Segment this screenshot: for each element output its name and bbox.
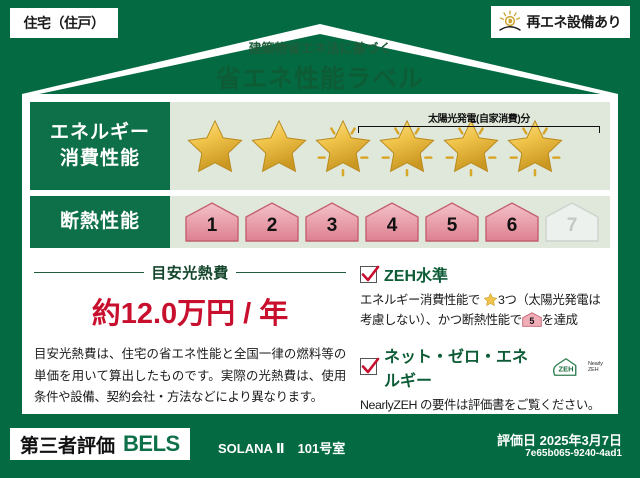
svg-text:ZEH: ZEH bbox=[558, 364, 573, 373]
insulation-level-number: 1 bbox=[184, 201, 240, 243]
net-zero-title: ネット・ゼロ・エネルギー bbox=[384, 343, 544, 391]
insulation-level-number: 7 bbox=[544, 201, 600, 243]
footer: 第三者評価 BELS SOLANA Ⅱ 101号室 評価日 2025年3月7日 … bbox=[0, 416, 640, 478]
bels-tag: 第三者評価 BELS bbox=[10, 428, 190, 460]
cost-heading-rule-left bbox=[34, 272, 144, 274]
insulation-level-number: 2 bbox=[244, 201, 300, 243]
building-name: SOLANA Ⅱ 101号室 bbox=[218, 438, 345, 457]
insulation-level-number: 6 bbox=[484, 201, 540, 243]
insulation-level-badge: 3 bbox=[304, 201, 360, 243]
star-icon bbox=[504, 115, 566, 177]
insulation-level-number: 3 bbox=[304, 201, 360, 243]
housing-type-tag: 住宅（住戸） bbox=[10, 8, 118, 38]
evaluation-id: 7e65b065-9240-4ad1 bbox=[525, 448, 622, 459]
cost-heading-label: 目安光熱費 bbox=[151, 262, 229, 283]
bels-logo: BELS bbox=[123, 431, 180, 457]
cost-section: 目安光熱費 約12.0万円 / 年 目安光熱費は、住宅の省エネ性能と全国一律の燃… bbox=[30, 258, 352, 415]
zeh-house-icon: ZEH bbox=[551, 355, 581, 379]
insulation-level-badge: 1 bbox=[184, 201, 240, 243]
renewable-energy-tag: 再エネ設備あり bbox=[491, 6, 631, 38]
insulation-performance-label: 断熱性能 bbox=[30, 196, 170, 248]
cost-note: 目安光熱費は、住宅の省エネ性能と全国一律の燃料等の単価を用いて算出したものです。… bbox=[34, 344, 346, 409]
net-zero-description: NearlyZEH の要件は評価書をご覧ください。 bbox=[360, 395, 610, 415]
cost-amount: 約12.0万円 / 年 bbox=[34, 290, 346, 332]
star-icon bbox=[376, 115, 438, 177]
zeh-standard-description: エネルギー消費性能で 3つ（太陽光発電は考慮しない）、かつ断熱性能で 5 を達成 bbox=[360, 290, 610, 331]
title-main: 省エネ性能ラベル bbox=[0, 59, 640, 95]
net-zero-check-row: ネット・ゼロ・エネルギー ZEH Nearly ZEH bbox=[360, 343, 610, 391]
zeh-standard-title: ZEH水準 bbox=[384, 262, 448, 286]
third-party-label: 第三者評価 bbox=[20, 431, 115, 458]
insulation-level-badge: 2 bbox=[244, 201, 300, 243]
star-icon bbox=[184, 115, 246, 177]
check-icon bbox=[360, 358, 377, 375]
star-icon bbox=[248, 115, 310, 177]
evaluation-date: 評価日 2025年3月7日 bbox=[497, 430, 622, 449]
star-icon bbox=[312, 115, 374, 177]
insulation-performance-row: 断熱性能 1 2 bbox=[30, 196, 610, 248]
sun-icon bbox=[497, 10, 523, 34]
lower-content: 目安光熱費 約12.0万円 / 年 目安光熱費は、住宅の省エネ性能と全国一律の燃… bbox=[30, 258, 610, 415]
housing-type-label: 住宅（住戸） bbox=[24, 13, 105, 33]
insulation-level-badge-inactive: 7 bbox=[544, 201, 600, 243]
zeh-section: ZEH水準 エネルギー消費性能で 3つ（太陽光発電は考慮しない）、かつ断熱性能で… bbox=[352, 258, 610, 415]
star-icon bbox=[483, 292, 498, 307]
renewable-energy-label: 再エネ設備あり bbox=[527, 12, 622, 32]
cost-heading: 目安光熱費 bbox=[34, 262, 346, 283]
zeh-desc-part1: エネルギー消費性能で bbox=[360, 293, 480, 307]
energy-performance-label: 住宅（住戸） 再エネ設備あり 建築物省エネ法に基づく 省エネ性能ラベ bbox=[0, 0, 640, 478]
energy-performance-stars: 太陽光発電(自家消費)分 bbox=[170, 102, 610, 190]
zeh-standard-check-row: ZEH水準 bbox=[360, 262, 610, 286]
insulation-level-badges: 1 2 3 4 bbox=[170, 196, 610, 248]
zeh-desc-part3: を達成 bbox=[542, 313, 578, 327]
page-title: 建築物省エネ法に基づく 省エネ性能ラベル bbox=[0, 38, 640, 95]
insulation-level-badge: 4 bbox=[364, 201, 420, 243]
energy-performance-label: エネルギー 消費性能 bbox=[30, 102, 170, 190]
zeh-standard-block: ZEH水準 エネルギー消費性能で 3つ（太陽光発電は考慮しない）、かつ断熱性能で… bbox=[360, 262, 610, 331]
energy-performance-row: エネルギー 消費性能 太陽光発電(自家消費)分 bbox=[30, 102, 610, 190]
net-zero-energy-block: ネット・ゼロ・エネルギー ZEH Nearly ZEH NearlyZEH の要… bbox=[360, 343, 610, 415]
insulation-level-number: 4 bbox=[364, 201, 420, 243]
label-card: エネルギー 消費性能 太陽光発電(自家消費)分 bbox=[22, 94, 618, 414]
evaluation-date-label: 評価日 bbox=[497, 433, 536, 448]
insulation-level-badge-inline: 5 bbox=[522, 312, 542, 327]
zeh-logo-subtext: Nearly ZEH bbox=[588, 361, 610, 373]
check-icon bbox=[360, 266, 377, 283]
insulation-level-number: 5 bbox=[522, 312, 542, 327]
insulation-level-badge: 6 bbox=[484, 201, 540, 243]
cost-heading-rule-right bbox=[236, 272, 346, 274]
title-subtitle: 建築物省エネ法に基づく bbox=[0, 38, 640, 57]
star-icon bbox=[440, 115, 502, 177]
insulation-level-badge: 5 bbox=[424, 201, 480, 243]
insulation-level-number: 5 bbox=[424, 201, 480, 243]
evaluation-date-value: 2025年3月7日 bbox=[540, 433, 622, 448]
